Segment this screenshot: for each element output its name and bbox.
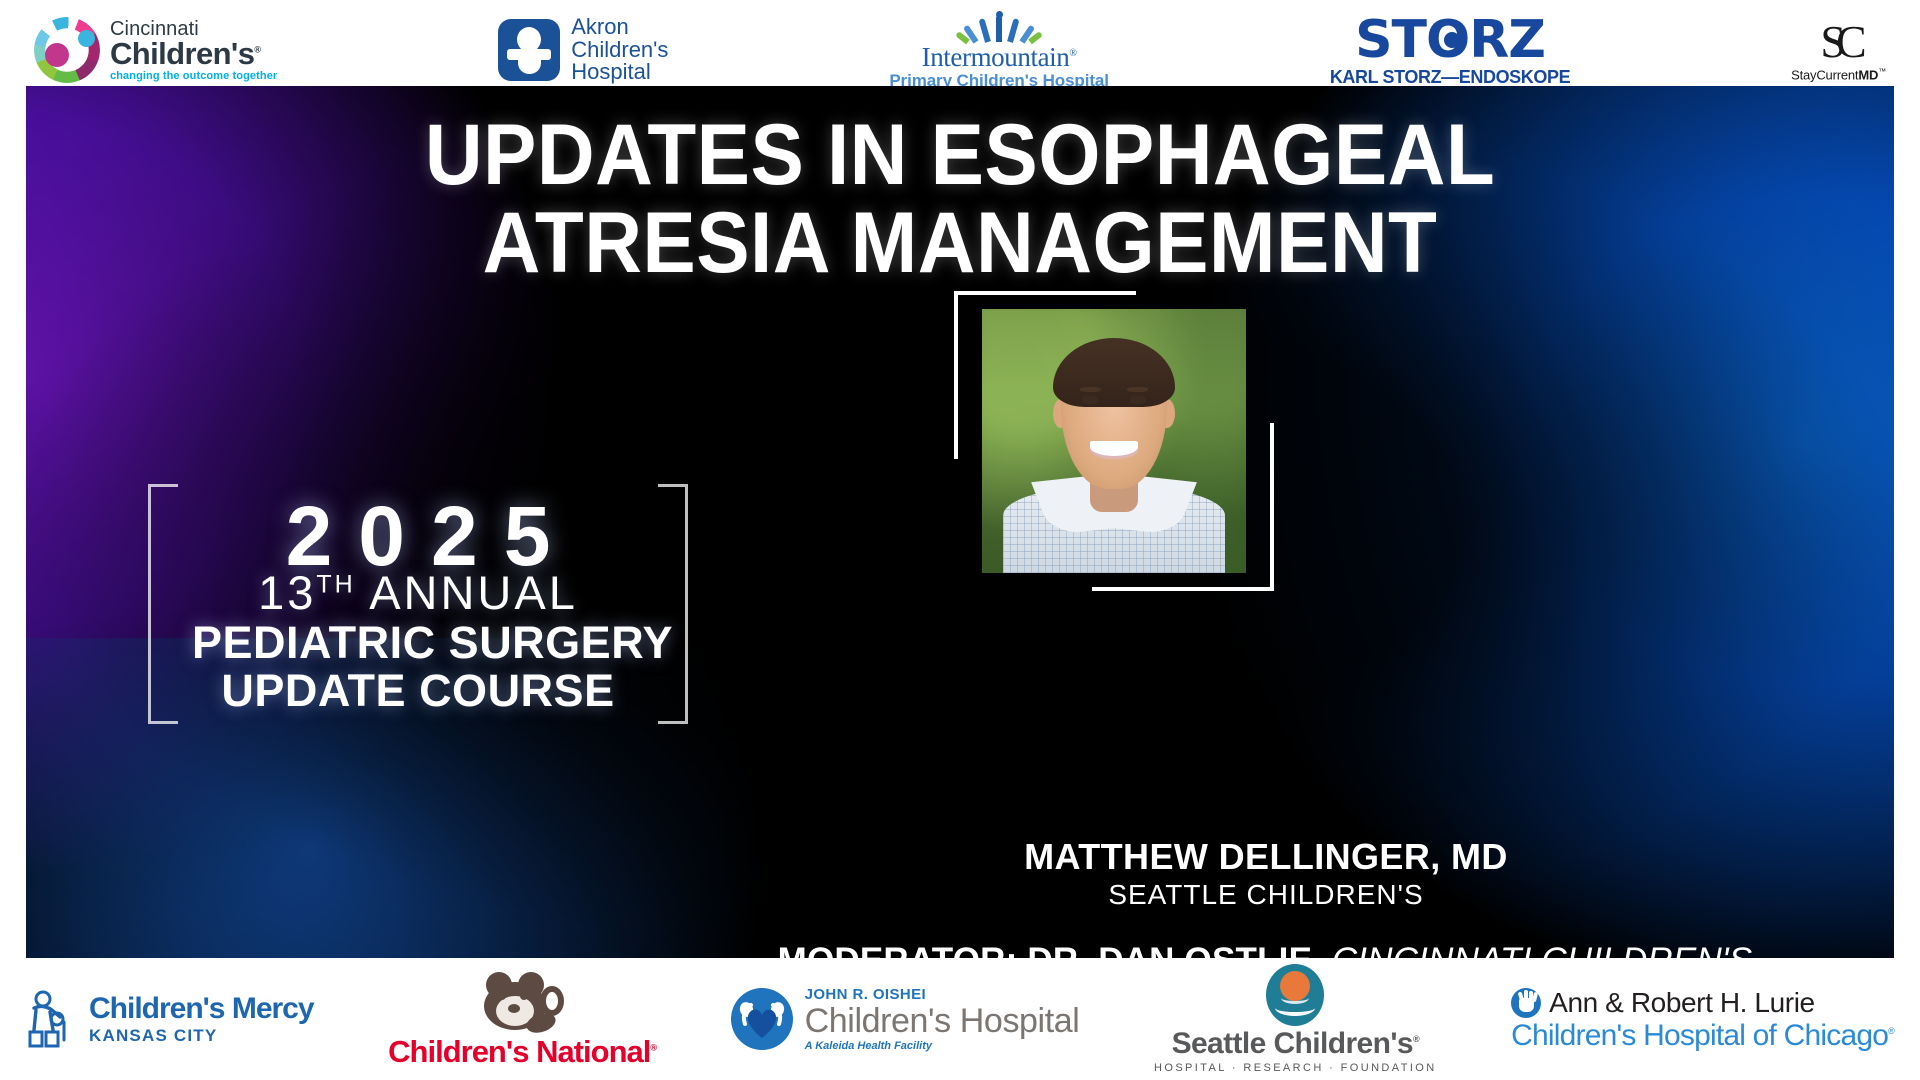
oishei-line2: Children's Hospital <box>805 1004 1080 1038</box>
course-year: 2025 <box>192 498 644 575</box>
staycurrentmd-trademark: ™ <box>1878 67 1886 76</box>
childrens-national-registered-mark: ® <box>650 1042 656 1052</box>
moderator-line: MODERATOR: DR. DAN OSTLIE, CINCINNATI CH… <box>666 942 1864 958</box>
seattle-childrens-name: Seattle Children's <box>1172 1027 1413 1060</box>
course-ordinal-suffix: TH <box>316 571 355 599</box>
lurie-line2: Children's Hospital of Chicago <box>1511 1019 1888 1052</box>
sponsor-logo-john-r-oishei-childrens-hospital: JOHN R. OISHEI Children's Hospital A Kal… <box>731 987 1080 1052</box>
oishei-line3: A Kaleida Health Facility <box>805 1041 1080 1052</box>
bottom-sponsor-bar: Children's Mercy KANSAS CITY Children's … <box>0 958 1920 1080</box>
intermountain-name: Intermountain <box>922 42 1070 72</box>
lurie-line1: Ann & Robert H. Lurie <box>1549 989 1815 1017</box>
sponsor-logo-cincinnati-childrens: Cincinnati Children's® changing the outc… <box>34 17 277 83</box>
photo-corner-top-left-horizontal <box>954 291 1136 295</box>
oishei-family-heart-icon <box>731 988 793 1050</box>
staycurrentmd-name-bold: MD <box>1858 67 1878 82</box>
sponsor-logo-karl-storz-endoskope: STORZ KARL STORZ—ENDOSKOPE <box>1330 14 1570 86</box>
sponsor-logo-akron-childrens-hospital: Akron Children's Hospital <box>498 16 668 85</box>
sponsor-logo-intermountain-primary-childrens-hospital: Intermountain® Primary Children's Hospit… <box>889 12 1109 89</box>
speaker-photo-frame <box>954 291 1274 591</box>
course-line-3: UPDATE COURSE <box>192 667 644 715</box>
speaker-organization: SEATTLE CHILDREN'S <box>726 879 1806 911</box>
presentation-slide: Cincinnati Children's® changing the outc… <box>0 0 1920 1080</box>
page-title: UPDATES IN ESOPHAGEAL ATRESIA MANAGEMENT <box>91 112 1828 287</box>
sponsor-logo-lurie-childrens-hospital-of-chicago: Ann & Robert H. Lurie Children's Hospita… <box>1511 988 1894 1051</box>
slide-stage: UPDATES IN ESOPHAGEAL ATRESIA MANAGEMENT… <box>26 86 1894 958</box>
sponsor-logo-seattle-childrens: Seattle Children's® HOSPITAL · RESEARCH … <box>1154 964 1437 1074</box>
sponsor-logo-staycurrentmd: SC StayCurrentMD™ <box>1791 19 1886 81</box>
seattle-childrens-whale-sun-icon <box>1266 964 1324 1026</box>
cincinnati-tagline: changing the outcome together <box>110 71 277 82</box>
childrens-national-name: Children's National <box>388 1034 650 1069</box>
cincinnati-registered-mark: ® <box>254 44 260 54</box>
akron-line1: Akron <box>571 16 668 39</box>
speaker-name: MATTHEW DELLINGER, MD <box>726 836 1806 878</box>
cincinnati-childrens-swirl-icon <box>34 17 100 83</box>
staycurrentmd-stethoscope-monogram-icon: SC <box>1791 19 1886 65</box>
photo-corner-top-left-vertical <box>954 291 958 459</box>
childrens-national-bear-icon <box>478 972 566 1034</box>
lurie-hand-icon <box>1511 988 1541 1018</box>
speaker-headshot-photo <box>982 309 1246 573</box>
top-sponsor-bar: Cincinnati Children's® changing the outc… <box>0 0 1920 100</box>
cincinnati-line2: Children's <box>110 36 254 71</box>
intermountain-burst-icon <box>963 12 1035 42</box>
akron-child-figure-icon <box>498 19 560 81</box>
storz-o-dot-icon <box>1444 32 1460 48</box>
course-annual-word: ANNUAL <box>369 566 578 619</box>
childrens-mercy-line1: Children's Mercy <box>89 994 314 1024</box>
intermountain-registered-mark: ® <box>1069 48 1076 59</box>
akron-line2: Children's <box>571 39 668 62</box>
course-bracket-left <box>148 484 178 724</box>
course-logo: 2025 13TH ANNUAL PEDIATRIC SURGERY UPDAT… <box>148 484 688 724</box>
childrens-mercy-caregiver-icon <box>26 990 78 1048</box>
course-ordinal-number: 13 <box>258 566 316 619</box>
seattle-childrens-subtitle: HOSPITAL · RESEARCH · FOUNDATION <box>1154 1063 1437 1074</box>
course-line-2: PEDIATRIC SURGERY <box>192 619 644 667</box>
staycurrentmd-name-light: StayCurrent <box>1791 67 1858 82</box>
sponsor-logo-childrens-mercy-kansas-city: Children's Mercy KANSAS CITY <box>26 990 314 1048</box>
childrens-mercy-line2: KANSAS CITY <box>89 1027 314 1044</box>
storz-subtitle: KARL STORZ—ENDOSKOPE <box>1330 68 1570 86</box>
oishei-line1: JOHN R. OISHEI <box>805 987 1080 1002</box>
title-line-1: UPDATES IN ESOPHAGEAL <box>91 112 1828 200</box>
photo-corner-bottom-right-horizontal <box>1092 587 1274 591</box>
course-bracket-right <box>658 484 688 724</box>
akron-line3: Hospital <box>571 61 668 84</box>
sponsor-logo-childrens-national: Children's National® <box>388 972 656 1067</box>
moderator-label: MODERATOR: DR. DAN OSTLIE, <box>778 941 1322 958</box>
seattle-childrens-registered-mark: ® <box>1413 1034 1419 1044</box>
lurie-registered-mark: ® <box>1888 1026 1894 1036</box>
title-line-2: ATRESIA MANAGEMENT <box>91 200 1828 288</box>
moderator-affiliation: CINCINNATI CHILDREN'S <box>1332 941 1753 958</box>
photo-corner-bottom-right-vertical <box>1270 423 1274 591</box>
